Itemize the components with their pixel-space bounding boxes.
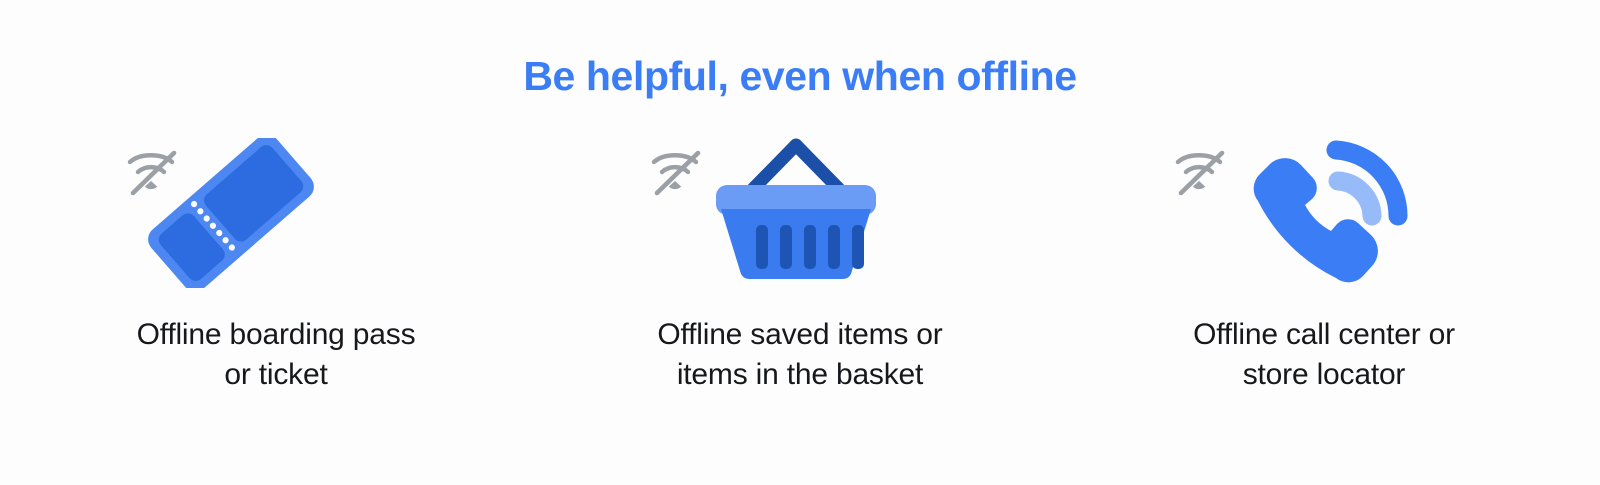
- feature-column-call-center: Offline call center or store locator: [1074, 130, 1574, 395]
- feature-caption-boarding-pass: Offline boarding pass or ticket: [137, 315, 416, 395]
- boarding-pass-artwork: [116, 130, 436, 295]
- phone-signal-arc-inner: [1338, 181, 1372, 216]
- basket-body: [721, 209, 871, 279]
- page-title: Be helpful, even when offline: [0, 52, 1600, 101]
- basket-artwork: [640, 130, 960, 295]
- basket-handle: [750, 145, 842, 192]
- phone-call-shape: [1230, 132, 1410, 287]
- feature-column-saved-items: Offline saved items or items in the bask…: [550, 130, 1050, 395]
- feature-caption-saved-items: Offline saved items or items in the bask…: [657, 315, 942, 395]
- ticket-shape: [146, 138, 316, 288]
- phone-artwork: [1164, 130, 1484, 295]
- feature-caption-call-center: Offline call center or store locator: [1193, 315, 1455, 395]
- wifi-off-icon: [648, 148, 706, 198]
- phone-handset: [1254, 158, 1378, 282]
- basket-shape: [704, 136, 894, 286]
- feature-columns: Offline boarding pass or ticket: [0, 130, 1600, 395]
- wifi-off-icon: [1172, 148, 1230, 198]
- offline-capabilities-slide: Be helpful, even when offline: [0, 0, 1600, 485]
- feature-column-boarding-pass: Offline boarding pass or ticket: [26, 130, 526, 395]
